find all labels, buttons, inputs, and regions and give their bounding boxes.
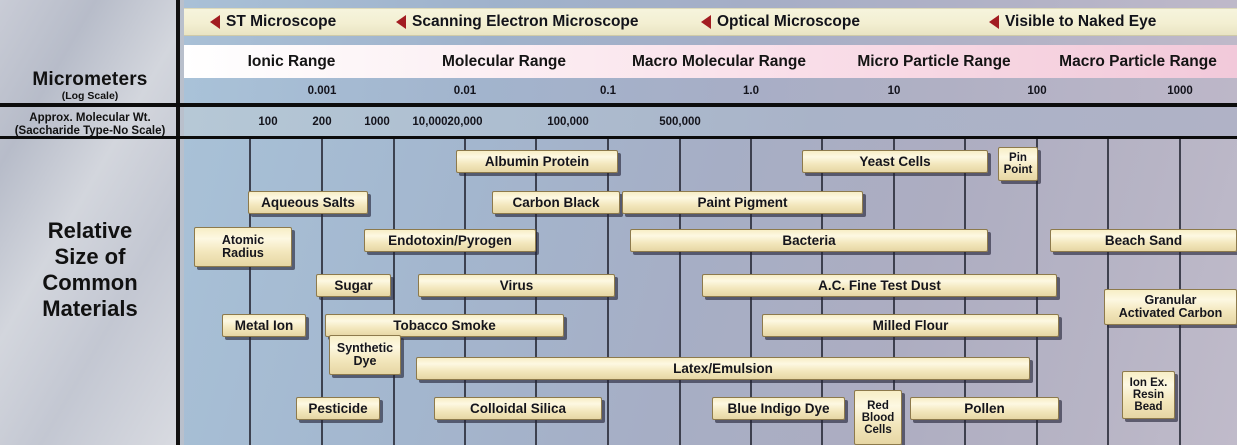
material-bar[interactable]: Virus <box>418 274 615 297</box>
micrometer-tick-band <box>184 78 1237 103</box>
triangle-left-icon <box>989 15 999 29</box>
molecular-weight-tick-3: 10,000 <box>412 107 447 136</box>
relative-size-line-2: Common <box>0 270 180 296</box>
material-bar-label: AtomicRadius <box>222 234 264 260</box>
relative-size-line-0: Relative <box>0 218 180 244</box>
material-bar-label: Ion Ex.ResinBead <box>1130 377 1168 413</box>
material-bar-label: Sugar <box>334 279 372 292</box>
micrometers-title: Micrometers <box>0 70 180 90</box>
triangle-left-icon <box>701 15 711 29</box>
molecular-weight-tick-0: 100 <box>258 107 277 136</box>
micrometer-tick-3: 1.0 <box>743 78 759 103</box>
gridline-6 <box>679 139 681 445</box>
material-bar-label: Albumin Protein <box>485 155 589 168</box>
material-bar[interactable]: Tobacco Smoke <box>325 314 564 337</box>
material-bar[interactable]: Carbon Black <box>492 191 620 214</box>
instrument-label-0: ST Microscope <box>210 8 336 36</box>
material-bar-label: Blue Indigo Dye <box>727 402 829 415</box>
material-bar-label: Carbon Black <box>512 196 599 209</box>
instrument-label-text: Optical Microscope <box>717 13 860 31</box>
axis-rule-primary <box>0 103 1237 107</box>
material-bar-label: Latex/Emulsion <box>673 362 773 375</box>
range-label-0: Ionic Range <box>184 45 399 78</box>
molecular-weight-axis-label: Approx. Molecular Wt. (Saccharide Type-N… <box>0 112 180 137</box>
material-bar[interactable]: GranularActivated Carbon <box>1104 289 1237 325</box>
micrometers-axis-label: Micrometers (Log Scale) <box>0 70 180 102</box>
micrometer-tick-2: 0.1 <box>600 78 616 103</box>
material-bar-label: Beach Sand <box>1105 234 1182 247</box>
material-bar-label: Aqueous Salts <box>261 196 355 209</box>
triangle-left-icon <box>210 15 220 29</box>
material-bar[interactable]: Pesticide <box>296 397 380 420</box>
relative-size-line-1: Size of <box>0 244 180 270</box>
material-bar-label: Pesticide <box>308 402 367 415</box>
material-bar-label: Paint Pigment <box>697 196 787 209</box>
material-bar-label: Colloidal Silica <box>470 402 566 415</box>
material-bar[interactable]: Milled Flour <box>762 314 1059 337</box>
molecular-weight-tick-4: 20,000 <box>447 107 482 136</box>
size-chart-page: Micrometers (Log Scale) Approx. Molecula… <box>0 0 1237 445</box>
triangle-left-icon <box>396 15 406 29</box>
material-bar-label: Endotoxin/Pyrogen <box>388 234 512 247</box>
instrument-label-text: Scanning Electron Microscope <box>412 13 639 31</box>
material-bar[interactable]: RedBloodCells <box>854 390 902 445</box>
material-bar[interactable]: Pollen <box>910 397 1059 420</box>
gridline-2 <box>393 139 395 445</box>
material-bar[interactable]: A.C. Fine Test Dust <box>702 274 1057 297</box>
molecular-weight-tick-6: 500,000 <box>659 107 701 136</box>
material-bar-label: A.C. Fine Test Dust <box>818 279 941 292</box>
material-bar[interactable]: PinPoint <box>998 147 1038 181</box>
instrument-label-2: Optical Microscope <box>701 8 860 36</box>
material-bar-label: PinPoint <box>1004 152 1033 176</box>
material-bar-label: Milled Flour <box>873 319 949 332</box>
relative-size-title: RelativeSize ofCommonMaterials <box>0 218 180 322</box>
material-bar-label: Tobacco Smoke <box>393 319 496 332</box>
left-label-column: Micrometers (Log Scale) Approx. Molecula… <box>0 0 180 445</box>
micrometers-subtitle: (Log Scale) <box>0 90 180 102</box>
material-bar[interactable]: Albumin Protein <box>456 150 618 173</box>
instrument-label-text: Visible to Naked Eye <box>1005 13 1156 31</box>
mw-label-line1: Approx. Molecular Wt. <box>0 112 180 125</box>
material-bar[interactable]: Bacteria <box>630 229 988 252</box>
gridline-0 <box>249 139 251 445</box>
instrument-label-3: Visible to Naked Eye <box>989 8 1156 36</box>
plot-area: ST MicroscopeScanning Electron Microscop… <box>184 0 1237 445</box>
molecular-weight-tick-5: 100,000 <box>547 107 589 136</box>
instrument-label-text: ST Microscope <box>226 13 336 31</box>
range-label-4: Macro Particle Range <box>1039 45 1237 78</box>
instrument-label-1: Scanning Electron Microscope <box>396 8 639 36</box>
axis-rule-secondary <box>0 136 1237 139</box>
material-bar[interactable]: Sugar <box>316 274 391 297</box>
micrometer-tick-4: 10 <box>888 78 901 103</box>
range-label-2: Macro Molecular Range <box>609 45 829 78</box>
material-bar-label: RedBloodCells <box>862 400 895 436</box>
material-bar-label: GranularActivated Carbon <box>1119 294 1223 320</box>
material-bar[interactable]: Blue Indigo Dye <box>712 397 845 420</box>
material-bar[interactable]: Latex/Emulsion <box>416 357 1030 380</box>
material-bar[interactable]: Colloidal Silica <box>434 397 602 420</box>
micrometer-tick-6: 1000 <box>1167 78 1193 103</box>
material-bar[interactable]: Beach Sand <box>1050 229 1237 252</box>
material-bar-label: Yeast Cells <box>859 155 930 168</box>
micrometer-tick-0: 0.001 <box>308 78 337 103</box>
material-bar-label: SyntheticDye <box>337 342 393 368</box>
micrometer-tick-1: 0.01 <box>454 78 476 103</box>
material-bar[interactable]: Metal Ion <box>222 314 306 337</box>
material-bar-label: Pollen <box>964 402 1005 415</box>
material-bar[interactable]: Paint Pigment <box>622 191 863 214</box>
material-bar[interactable]: Yeast Cells <box>802 150 988 173</box>
molecular-weight-tick-2: 1000 <box>364 107 390 136</box>
material-bar-label: Metal Ion <box>235 319 294 332</box>
material-bar[interactable]: Endotoxin/Pyrogen <box>364 229 536 252</box>
material-bar[interactable]: Aqueous Salts <box>248 191 368 214</box>
molecular-weight-band <box>184 107 1237 136</box>
range-label-1: Molecular Range <box>399 45 609 78</box>
material-bar-label: Bacteria <box>782 234 835 247</box>
material-bar[interactable]: Ion Ex.ResinBead <box>1122 371 1175 419</box>
material-bar[interactable]: AtomicRadius <box>194 227 292 267</box>
material-bar-label: Virus <box>500 279 534 292</box>
chart-body: Albumin ProteinYeast CellsPinPointAqueou… <box>184 139 1237 445</box>
material-bar[interactable]: SyntheticDye <box>329 335 401 375</box>
molecular-weight-tick-1: 200 <box>312 107 331 136</box>
micrometer-tick-5: 100 <box>1027 78 1046 103</box>
range-label-3: Micro Particle Range <box>829 45 1039 78</box>
relative-size-line-3: Materials <box>0 296 180 322</box>
